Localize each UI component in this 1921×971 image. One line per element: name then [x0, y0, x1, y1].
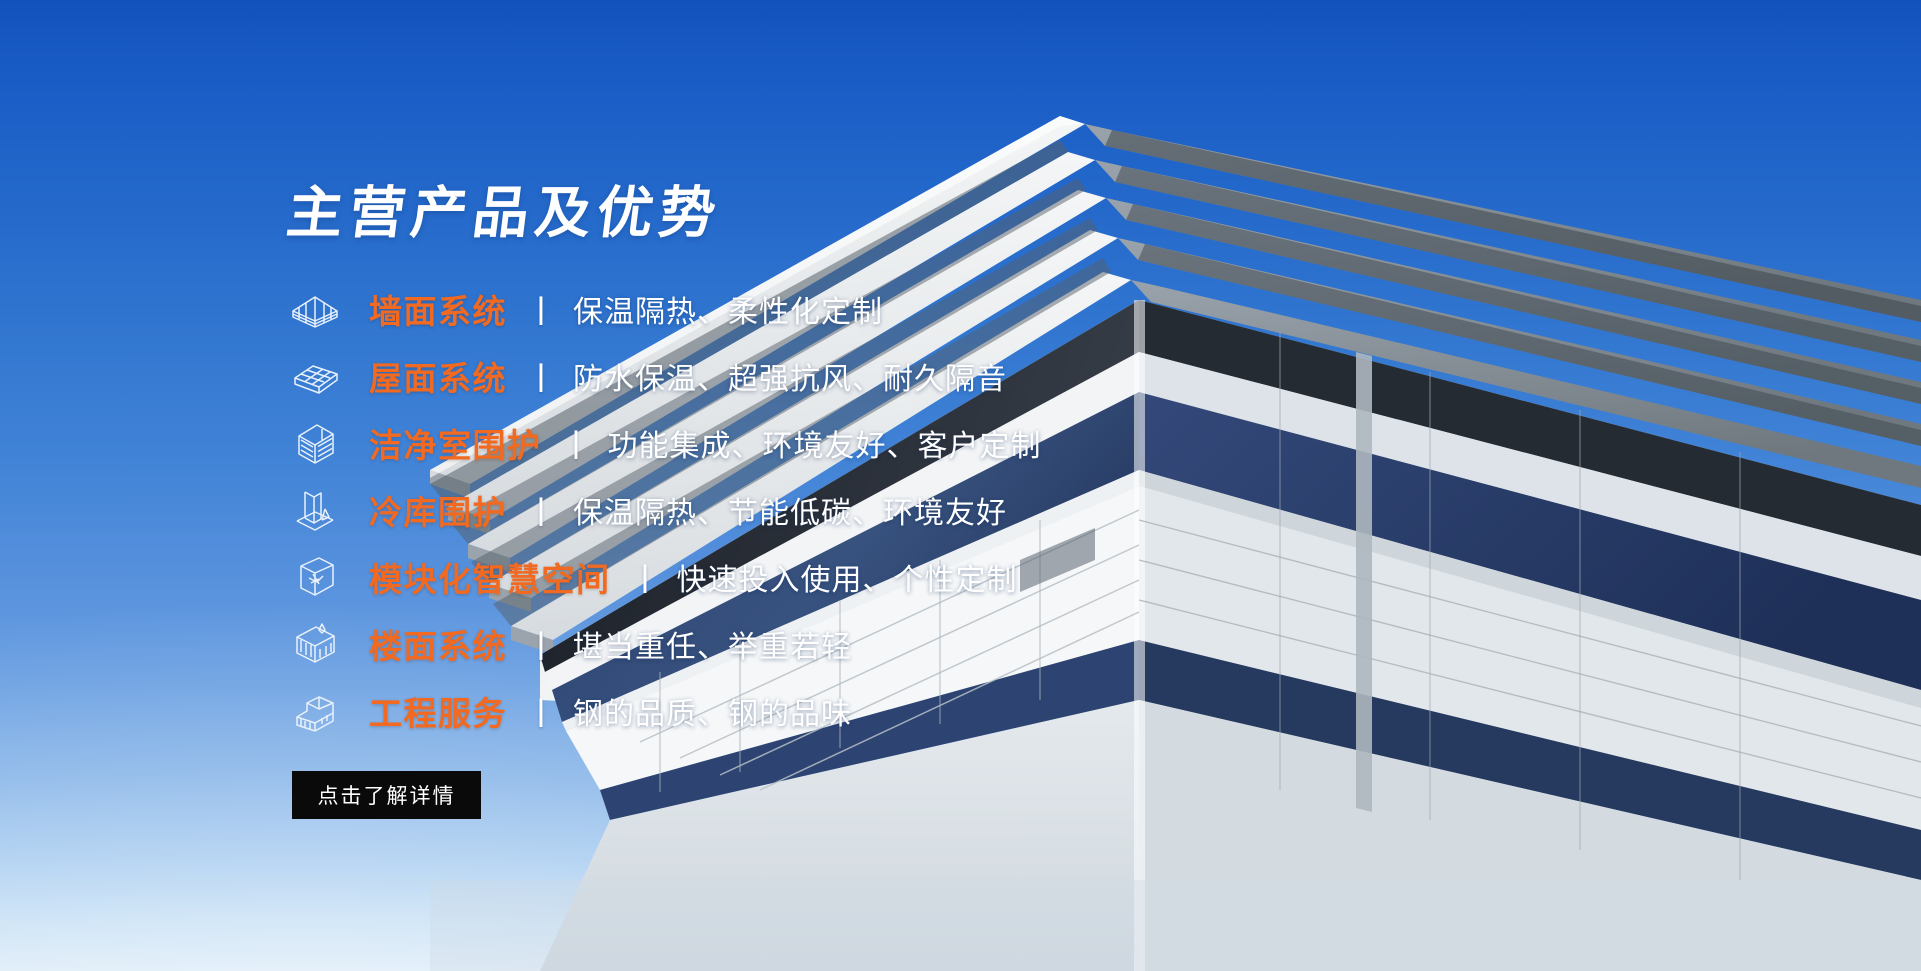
product-desc: 快速投入使用、个性定制: [677, 555, 1018, 599]
product-name: 冷库围护: [369, 486, 507, 534]
product-name: 工程服务: [369, 687, 507, 735]
product-desc: 钢的品质、钢的品味: [573, 689, 852, 733]
roof-system-icon: [287, 350, 343, 402]
product-name: 楼面系统: [369, 620, 507, 668]
product-row[interactable]: 洁净室围护 丨 功能集成、环境友好、客户定制: [287, 410, 1287, 477]
product-desc: 堪当重任、举重若轻: [573, 622, 852, 666]
engineering-service-icon: [287, 685, 343, 737]
product-row[interactable]: 屋面系统 丨 防水保温、超强抗风、耐久隔音: [287, 343, 1287, 410]
product-name: 洁净室围护: [369, 419, 542, 467]
hero-banner: 主营产品及优势 墙面系统 丨 保温隔热、柔性化定制: [0, 0, 1921, 971]
product-name: 墙面系统: [369, 285, 507, 333]
product-separator: 丨: [528, 354, 554, 398]
product-separator: 丨: [632, 555, 658, 599]
product-desc: 保温隔热、柔性化定制: [573, 287, 883, 331]
product-name: 屋面系统: [369, 352, 507, 400]
product-row[interactable]: 楼面系统 丨 堪当重任、举重若轻: [287, 611, 1287, 678]
page-title: 主营产品及优势: [283, 185, 1290, 244]
wall-system-icon: [287, 283, 343, 335]
learn-more-button[interactable]: 点击了解详情: [292, 771, 481, 819]
product-row[interactable]: 模块化智慧空间 丨 快速投入使用、个性定制: [287, 544, 1287, 611]
product-list: 墙面系统 丨 保温隔热、柔性化定制 屋面系统 丨 防水保温、超强抗: [287, 276, 1287, 745]
product-desc: 保温隔热、节能低碳、环境友好: [573, 488, 1007, 532]
coldstorage-icon: [287, 484, 343, 536]
product-desc: 功能集成、环境友好、客户定制: [608, 421, 1042, 465]
modular-space-icon: [287, 551, 343, 603]
product-desc: 防水保温、超强抗风、耐久隔音: [573, 354, 1007, 398]
cleanroom-icon: [287, 417, 343, 469]
product-separator: 丨: [528, 622, 554, 666]
banner-content: 主营产品及优势 墙面系统 丨 保温隔热、柔性化定制: [287, 185, 1287, 819]
product-row[interactable]: 墙面系统 丨 保温隔热、柔性化定制: [287, 276, 1287, 343]
product-separator: 丨: [528, 689, 554, 733]
product-row[interactable]: 工程服务 丨 钢的品质、钢的品味: [287, 678, 1287, 745]
floor-system-icon: [287, 618, 343, 670]
product-row[interactable]: 冷库围护 丨 保温隔热、节能低碳、环境友好: [287, 477, 1287, 544]
product-name: 模块化智慧空间: [369, 553, 611, 601]
product-separator: 丨: [563, 421, 589, 465]
product-separator: 丨: [528, 287, 554, 331]
product-separator: 丨: [528, 488, 554, 532]
